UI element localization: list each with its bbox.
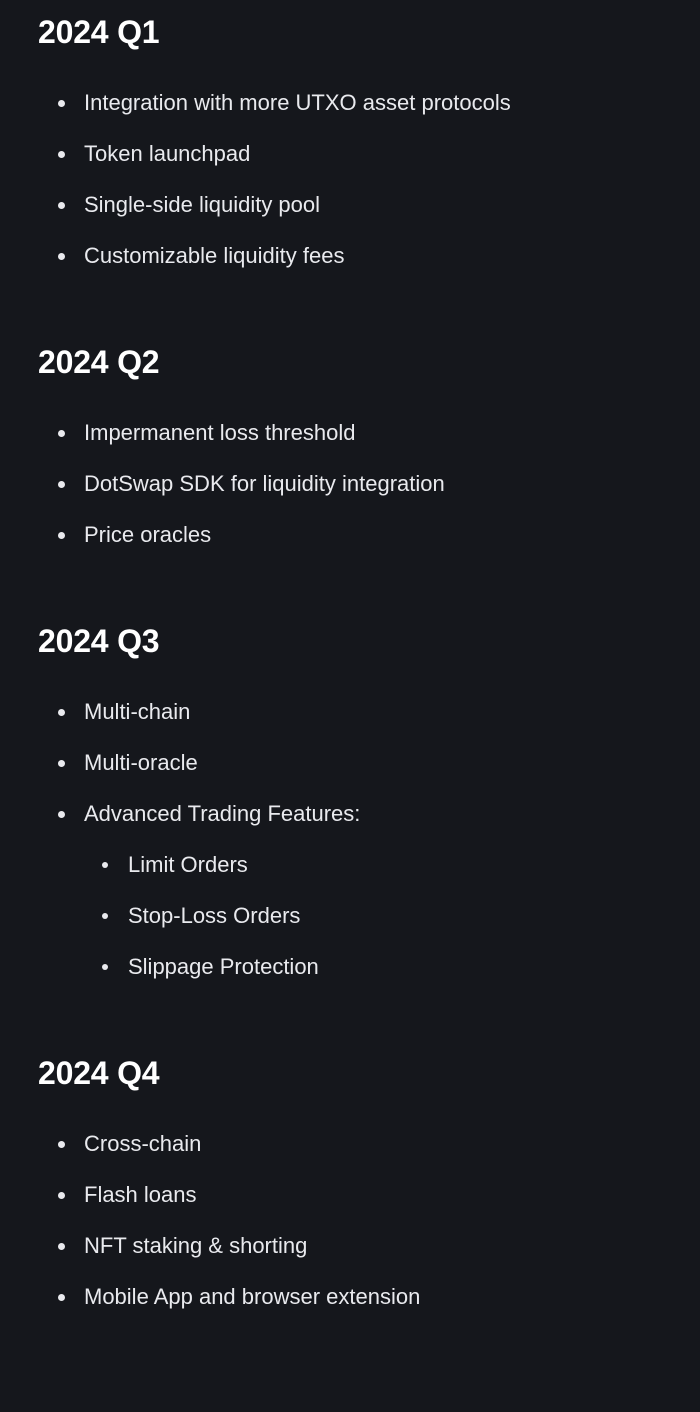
list-item: Cross-chain	[38, 1133, 662, 1155]
list-item-label: Integration with more UTXO asset protoco…	[84, 92, 662, 114]
bullet-icon	[58, 151, 65, 158]
list-item: Multi-oracle	[38, 752, 662, 774]
roadmap-section: 2024 Q3Multi-chainMulti-oracleAdvanced T…	[38, 546, 662, 978]
list-item: Token launchpad	[38, 143, 662, 165]
list-item: Advanced Trading Features:Limit OrdersSt…	[38, 803, 662, 978]
sub-list-item: Limit Orders	[84, 854, 662, 876]
bullet-icon	[58, 202, 65, 209]
list-item: Impermanent loss threshold	[38, 422, 662, 444]
section-heading: 2024 Q4	[38, 978, 662, 1089]
list-item-label: Price oracles	[84, 524, 662, 546]
sub-bullet-icon	[102, 964, 108, 970]
bullet-icon	[58, 253, 65, 260]
list-item-label: Single-side liquidity pool	[84, 194, 662, 216]
list-item-label: NFT staking & shorting	[84, 1235, 662, 1257]
section-heading: 2024 Q2	[38, 267, 662, 378]
feature-list: Integration with more UTXO asset protoco…	[38, 48, 662, 267]
bullet-icon	[58, 100, 65, 107]
bullet-icon	[58, 1243, 65, 1250]
list-item: NFT staking & shorting	[38, 1235, 662, 1257]
list-item: Multi-chain	[38, 701, 662, 723]
list-item-label: Advanced Trading Features:	[84, 803, 662, 825]
list-item-label: Mobile App and browser extension	[84, 1286, 662, 1308]
section-heading: 2024 Q1	[38, 0, 662, 48]
list-item: Flash loans	[38, 1184, 662, 1206]
feature-list: Impermanent loss thresholdDotSwap SDK fo…	[38, 378, 662, 546]
sub-list-item-label: Limit Orders	[128, 854, 662, 876]
list-item-label: Token launchpad	[84, 143, 662, 165]
feature-list: Multi-chainMulti-oracleAdvanced Trading …	[38, 657, 662, 978]
sub-list-item: Slippage Protection	[84, 956, 662, 978]
list-item: DotSwap SDK for liquidity integration	[38, 473, 662, 495]
list-item: Single-side liquidity pool	[38, 194, 662, 216]
list-item: Mobile App and browser extension	[38, 1286, 662, 1308]
sub-bullet-icon	[102, 862, 108, 868]
list-item-label: Customizable liquidity fees	[84, 245, 662, 267]
list-item: Price oracles	[38, 524, 662, 546]
sub-list-item: Stop-Loss Orders	[84, 905, 662, 927]
roadmap-section: 2024 Q4Cross-chainFlash loansNFT staking…	[38, 978, 662, 1308]
bullet-icon	[58, 811, 65, 818]
bullet-icon	[58, 430, 65, 437]
bullet-icon	[58, 532, 65, 539]
bullet-icon	[58, 1192, 65, 1199]
roadmap-container: 2024 Q1Integration with more UTXO asset …	[0, 0, 700, 1356]
bullet-icon	[58, 1294, 65, 1301]
list-item-label: DotSwap SDK for liquidity integration	[84, 473, 662, 495]
list-item-label: Cross-chain	[84, 1133, 662, 1155]
bullet-icon	[58, 709, 65, 716]
sub-list-item-label: Stop-Loss Orders	[128, 905, 662, 927]
bullet-icon	[58, 760, 65, 767]
sub-list-item-label: Slippage Protection	[128, 956, 662, 978]
section-heading: 2024 Q3	[38, 546, 662, 657]
list-item-label: Flash loans	[84, 1184, 662, 1206]
sub-bullet-icon	[102, 913, 108, 919]
bullet-icon	[58, 481, 65, 488]
feature-list: Cross-chainFlash loansNFT staking & shor…	[38, 1089, 662, 1308]
list-item-label: Multi-chain	[84, 701, 662, 723]
list-item: Integration with more UTXO asset protoco…	[38, 92, 662, 114]
list-item: Customizable liquidity fees	[38, 245, 662, 267]
list-item-label: Multi-oracle	[84, 752, 662, 774]
feature-sublist: Limit OrdersStop-Loss OrdersSlippage Pro…	[84, 825, 662, 978]
roadmap-section: 2024 Q1Integration with more UTXO asset …	[38, 0, 662, 267]
roadmap-section: 2024 Q2Impermanent loss thresholdDotSwap…	[38, 267, 662, 546]
bullet-icon	[58, 1141, 65, 1148]
list-item-label: Impermanent loss threshold	[84, 422, 662, 444]
